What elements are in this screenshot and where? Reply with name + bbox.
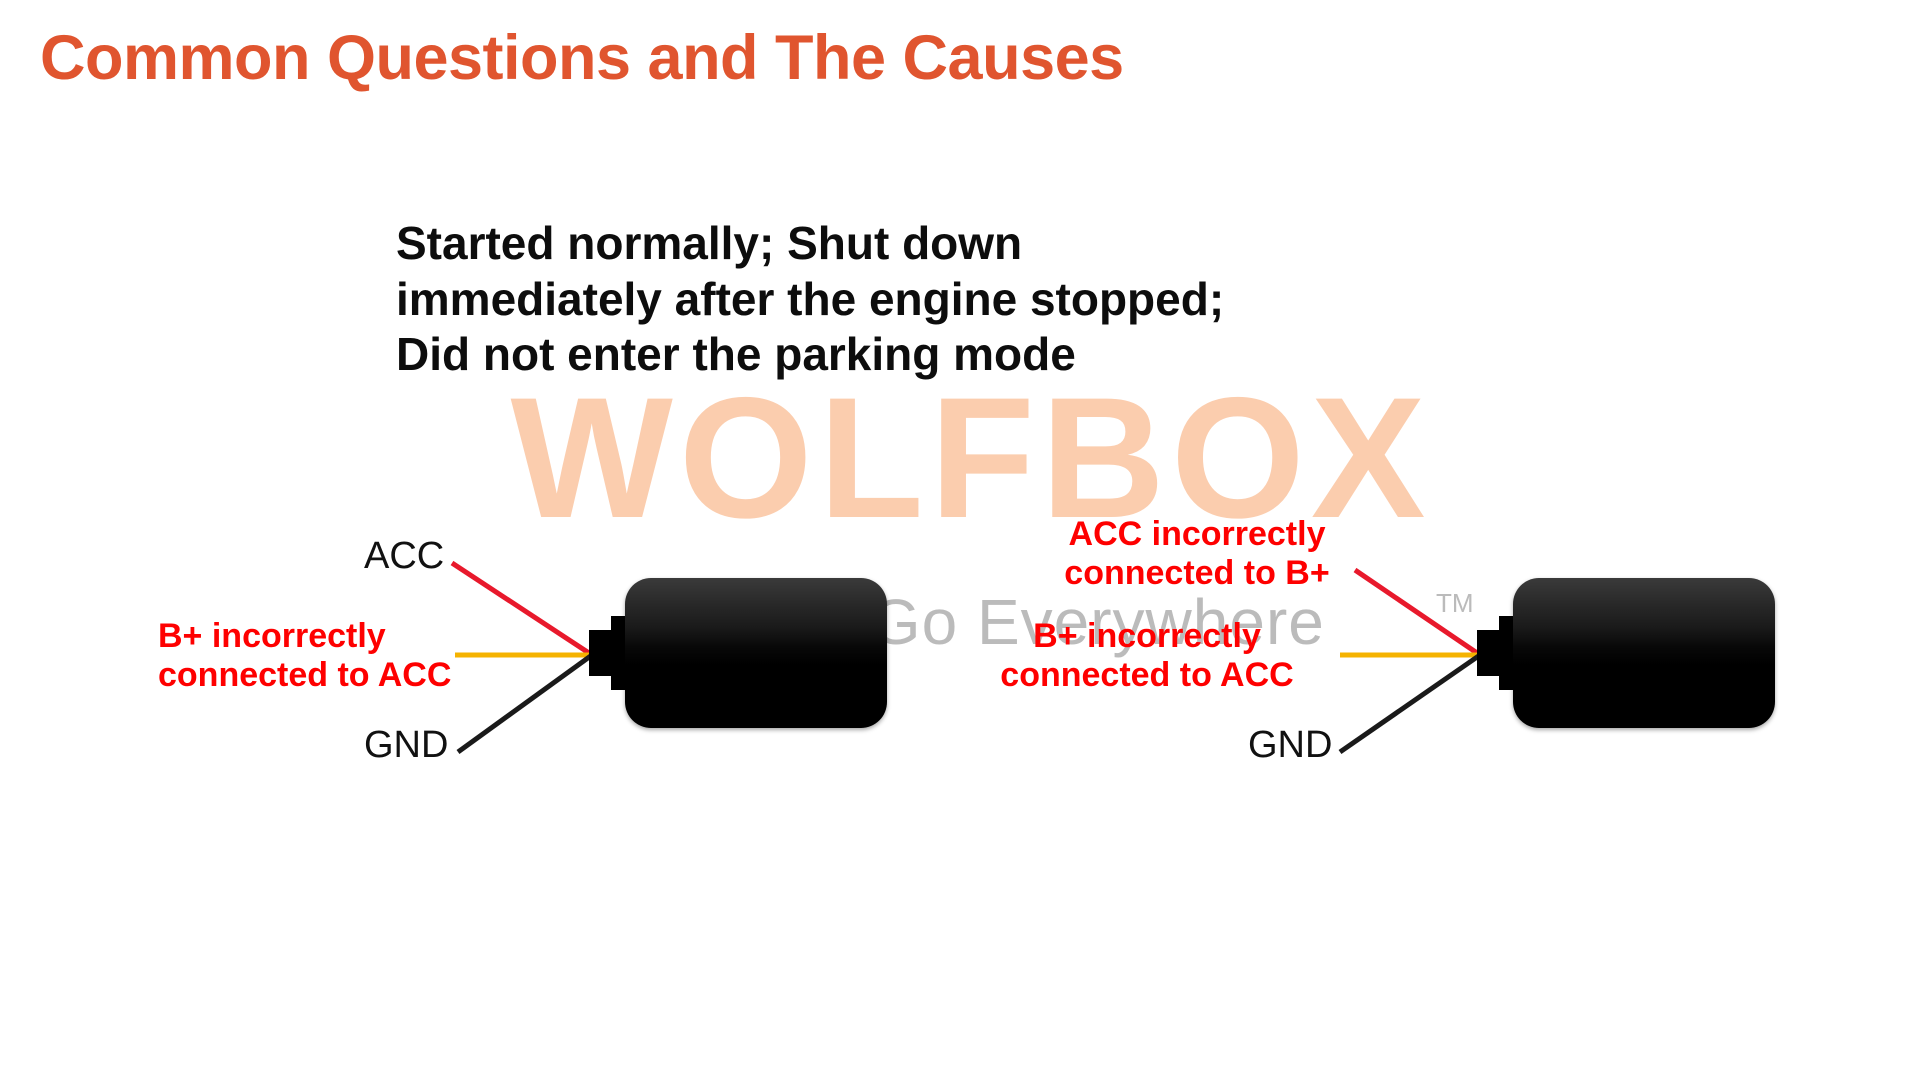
device-body-left (625, 578, 887, 728)
wolfbox-watermark-logo: WOLFBOX (306, 372, 1636, 544)
headline-line-3: Did not enter the parking mode (396, 327, 1536, 383)
headline-text: Started normally; Shut down immediately … (396, 216, 1536, 383)
label-bplus-fault-left-line-1: B+ incorrectly (158, 617, 451, 656)
label-acc-left: ACC (364, 534, 444, 578)
label-gnd-left: GND (364, 723, 448, 767)
label-bplus-fault-right-line-2: connected to ACC (980, 656, 1314, 695)
label-acc-fault-right-line-2: connected to B+ (1030, 554, 1364, 593)
label-bplus-fault-left: B+ incorrectly connected to ACC (158, 617, 451, 696)
headline-line-2: immediately after the engine stopped; (396, 272, 1536, 328)
label-acc-fault-right-line-1: ACC incorrectly (1030, 515, 1364, 554)
label-bplus-fault-right-line-1: B+ incorrectly (980, 617, 1314, 656)
label-bplus-fault-left-line-2: connected to ACC (158, 656, 451, 695)
label-gnd-right: GND (1248, 723, 1332, 767)
label-acc-fault-right: ACC incorrectly connected to B+ (1030, 515, 1364, 594)
headline-line-1: Started normally; Shut down (396, 216, 1536, 272)
page-title: Common Questions and The Causes (40, 22, 1124, 94)
trademark-symbol: TM (1436, 588, 1474, 619)
device-body-right (1513, 578, 1775, 728)
label-bplus-fault-right: B+ incorrectly connected to ACC (980, 617, 1314, 696)
gnd-wire-right (1340, 655, 1480, 752)
slide-canvas: Common Questions and The Causes Started … (0, 0, 1920, 1080)
gnd-wire-left (458, 655, 592, 752)
